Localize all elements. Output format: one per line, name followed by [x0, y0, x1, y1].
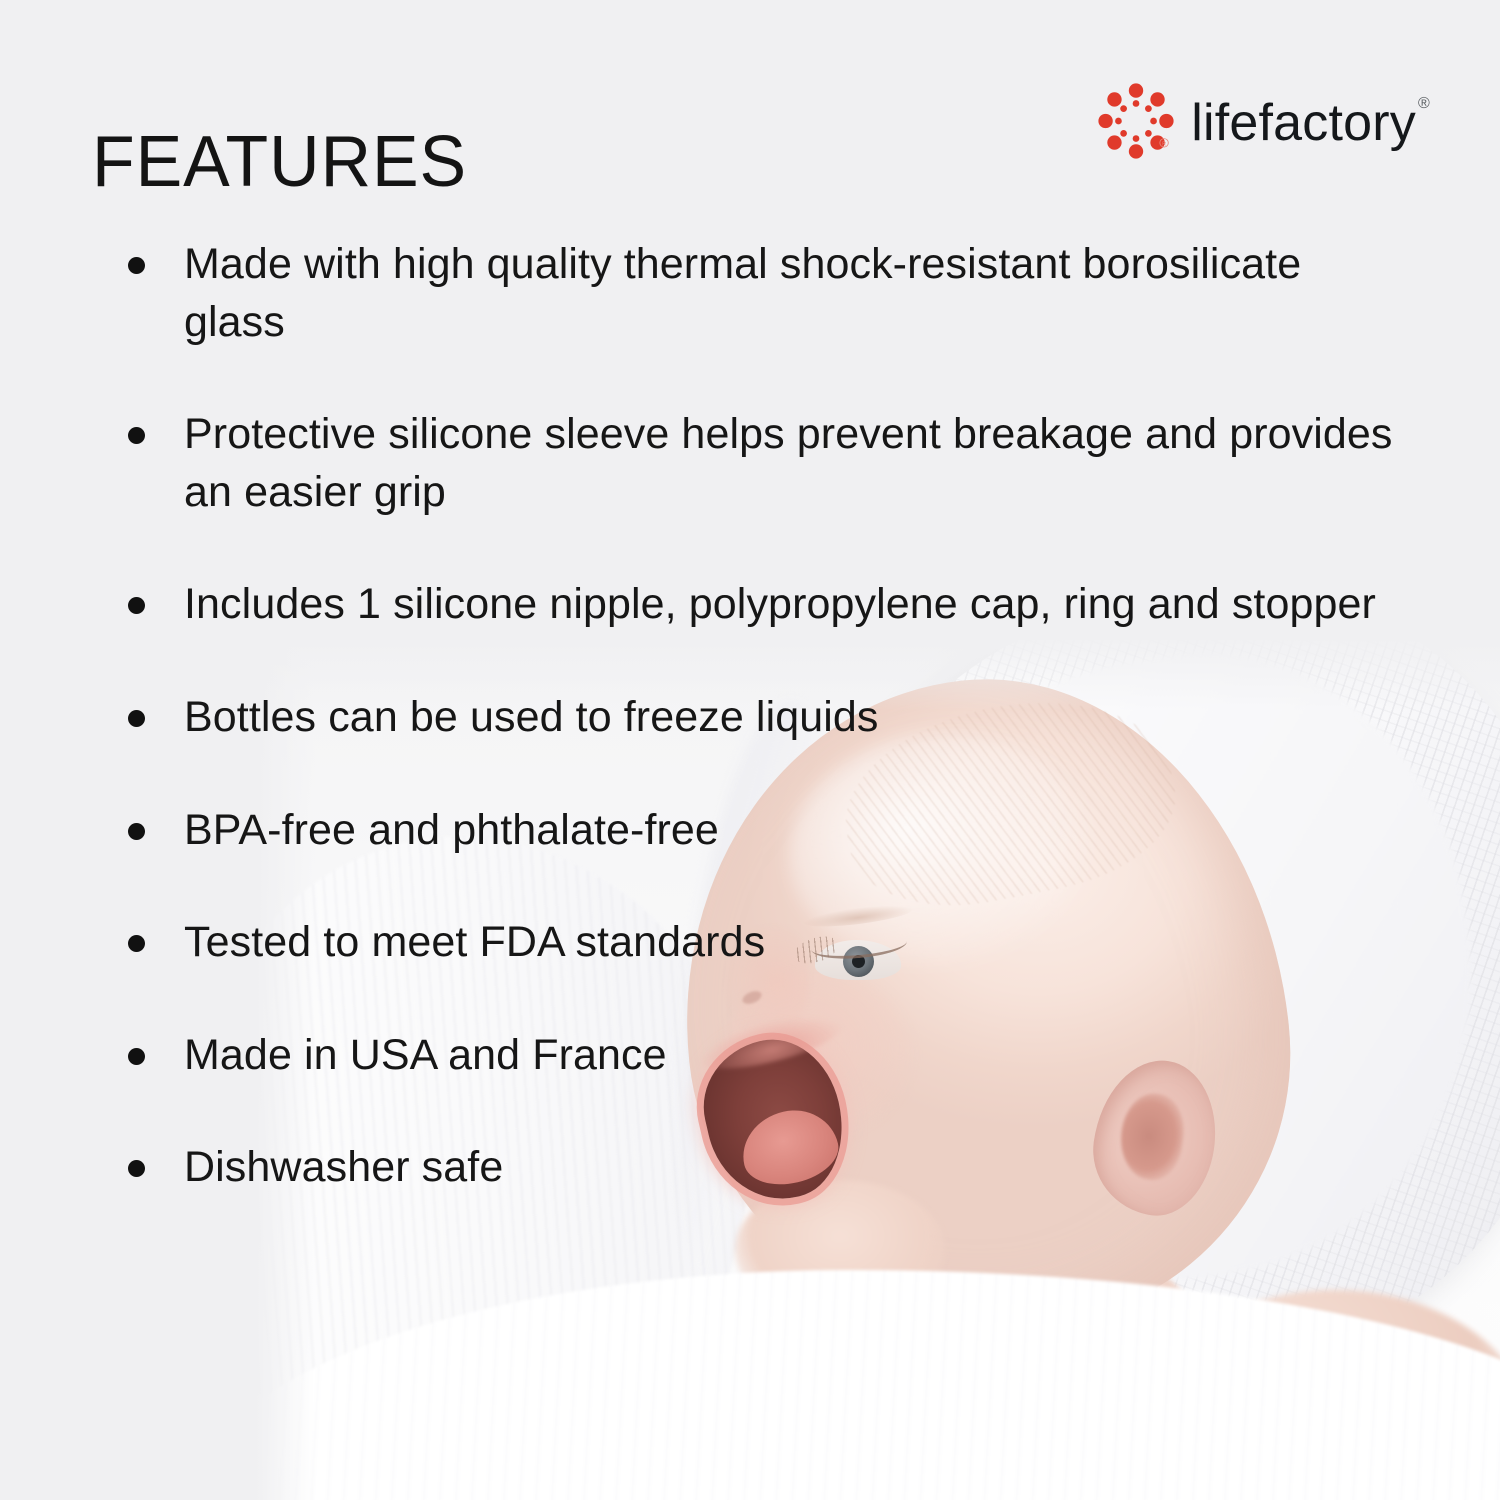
list-item: Dishwasher safe	[122, 1139, 1412, 1197]
bullet-icon	[128, 1160, 145, 1177]
list-item: Bottles can be used to freeze liquids	[122, 689, 1412, 747]
list-item: Made in USA and France	[122, 1027, 1412, 1085]
features-page: FEATURES	[0, 0, 1500, 1500]
list-item-text: Bottles can be used to freeze liquids	[184, 693, 879, 741]
bullet-icon	[128, 427, 145, 444]
svg-text:R: R	[1162, 141, 1166, 147]
bullet-icon	[128, 823, 145, 840]
list-item-text: Tested to meet FDA standards	[184, 918, 765, 966]
list-item-text: BPA-free and phthalate-free	[184, 806, 719, 854]
brand-logo: R lifefactory®	[1097, 82, 1428, 160]
list-item: Tested to meet FDA standards	[122, 914, 1412, 972]
registered-trademark-icon: ®	[1418, 95, 1430, 112]
page-title: FEATURES	[92, 126, 467, 198]
brand-wordmark: lifefactory®	[1191, 97, 1428, 149]
list-item-text: Dishwasher safe	[184, 1143, 503, 1191]
list-item: Made with high quality thermal shock-res…	[122, 236, 1412, 351]
list-item-text: Made with high quality thermal shock-res…	[184, 240, 1301, 346]
list-item-text: Made in USA and France	[184, 1031, 667, 1079]
bullet-icon	[128, 257, 145, 274]
list-item: Protective silicone sleeve helps prevent…	[122, 406, 1412, 521]
bullet-icon	[128, 935, 145, 952]
bullet-icon	[128, 710, 145, 727]
features-list: Made with high quality thermal shock-res…	[122, 236, 1412, 1197]
brand-name: lifefactory	[1191, 94, 1416, 152]
list-item-text: Protective silicone sleeve helps prevent…	[184, 410, 1393, 516]
list-item: Includes 1 silicone nipple, polypropylen…	[122, 576, 1412, 634]
bullet-icon	[128, 1048, 145, 1065]
lifefactory-dot-circle-logo-icon: R	[1097, 82, 1175, 160]
bullet-icon	[128, 597, 145, 614]
list-item: BPA-free and phthalate-free	[122, 802, 1412, 860]
list-item-text: Includes 1 silicone nipple, polypropylen…	[184, 580, 1376, 628]
content-layer: FEATURES	[0, 0, 1500, 1500]
